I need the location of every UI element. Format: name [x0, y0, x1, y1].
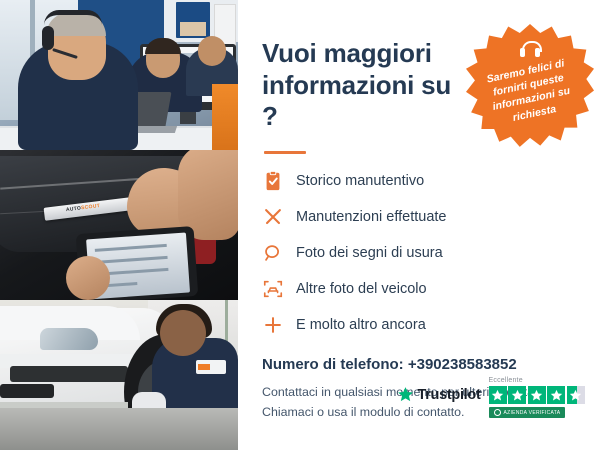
headset-icon [520, 41, 540, 58]
phone-line: Numero di telefono: +390238583852 [262, 356, 578, 373]
star-filled [547, 386, 565, 404]
photo-paint-thickness-inspection: AUTOSCOUT [0, 150, 238, 300]
orange-equipment [212, 84, 238, 150]
phone-label: Numero di telefono: [262, 356, 404, 373]
callout-badge-text: Saremo felici di fornirti queste informa… [473, 54, 587, 131]
agent-third-head [198, 36, 226, 66]
list-item[interactable]: Manutenzioni effettuate [262, 206, 578, 228]
verified-check-icon [494, 409, 501, 416]
list-item-label: Altre foto del veicolo [296, 281, 427, 297]
monitor-stand [180, 110, 196, 124]
list-item[interactable]: Foto dei segni di usura [262, 242, 578, 264]
trustpilot-wordmark: Trustpilot [417, 387, 480, 403]
car-grille [10, 366, 128, 382]
headset-earpiece [42, 26, 54, 50]
star-filled [528, 386, 546, 404]
promo-card: AUTOSCOUT [0, 0, 600, 450]
list-item[interactable]: E molto altro ancora [262, 314, 578, 336]
trustpilot-star-icon [397, 386, 414, 403]
headset-band [44, 10, 102, 25]
star-filled [489, 386, 507, 404]
page-title: Vuoi maggiori informazioni su ? [262, 38, 472, 133]
mechanic-head [160, 310, 206, 356]
car-lower-grille [0, 384, 54, 398]
title-underline-rule [264, 151, 306, 154]
list-item-label: Storico manutentivo [296, 173, 424, 189]
list-item-label: E molto altro ancora [296, 317, 426, 333]
clipboard-check-icon [262, 170, 284, 192]
plus-icon [262, 314, 284, 336]
list-item-label: Foto dei segni di usura [296, 245, 443, 261]
tablet-row [96, 256, 168, 264]
feature-list: Storico manutentivo Manutenzioni effettu… [262, 170, 578, 336]
star-partial [567, 386, 585, 404]
content-panel: Vuoi maggiori informazioni su ? Saremo f… [238, 0, 600, 450]
wall-poster [176, 2, 210, 38]
car-headlight [40, 328, 98, 350]
phone-number[interactable]: +390238583852 [408, 356, 517, 373]
headset-earcup-left [520, 48, 525, 57]
trustpilot-rating-label: Eccellente [489, 377, 523, 384]
hand-holding-tablet [66, 256, 110, 300]
workshop-floor [0, 408, 238, 450]
photo-call-center-agents-with-headsets [0, 0, 238, 150]
list-item[interactable]: Altre foto del veicolo [262, 278, 578, 300]
verified-company-label: AZIENDA VERIFICATA [504, 410, 561, 416]
star-filled [508, 386, 526, 404]
trustpilot-stars [489, 386, 587, 404]
uniform-logo-patch [196, 360, 226, 374]
crossed-tools-icon [262, 206, 284, 228]
trustpilot-rating: Eccellente AZIENDA VERIFICATA [489, 377, 587, 418]
headset-earcup-right [535, 48, 540, 57]
trustpilot-widget[interactable]: Trustpilot Eccellente AZIENDA VERIFICATA [397, 377, 586, 418]
car-focus-frame-icon [262, 278, 284, 300]
callout-badge: Saremo felici di fornirti queste informa… [466, 24, 594, 152]
ruler-brand: AUTOSCOUT [66, 203, 101, 213]
list-item-label: Manutenzioni effettuate [296, 209, 446, 225]
photo-mechanic-wheel-inspection [0, 300, 238, 450]
trustpilot-logo: Trustpilot [397, 386, 480, 403]
magnifier-icon [262, 242, 284, 264]
tablet-row [95, 244, 167, 252]
verified-company-badge: AZIENDA VERIFICATA [489, 407, 566, 418]
list-item[interactable]: Storico manutentivo [262, 170, 578, 192]
photo-column: AUTOSCOUT [0, 0, 238, 450]
